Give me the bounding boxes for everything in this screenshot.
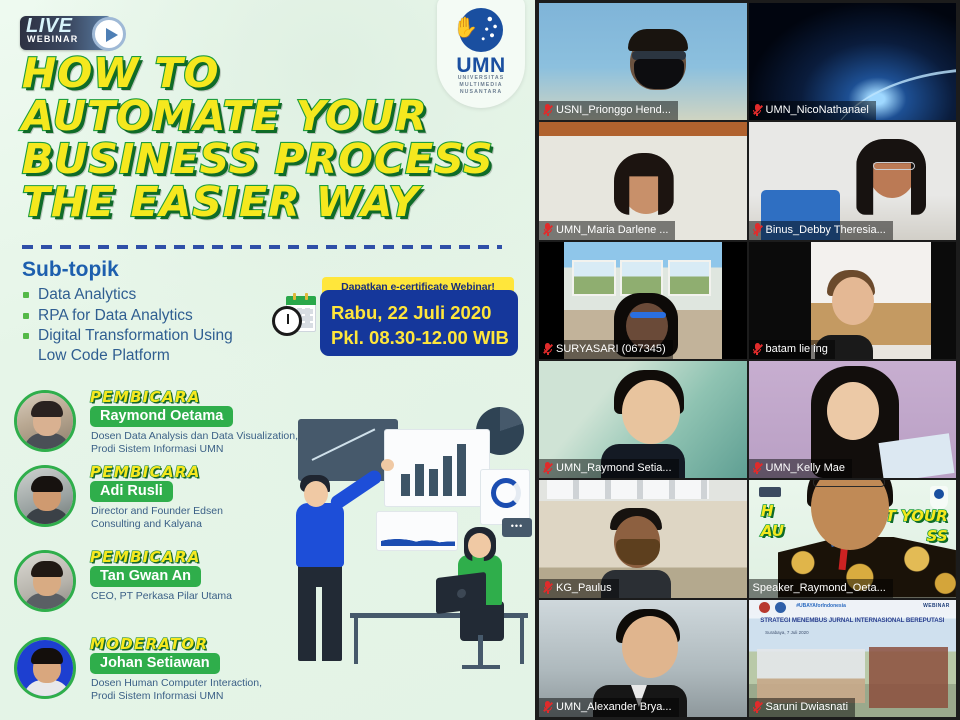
trend-board-icon [298, 419, 398, 481]
glasses-icon [813, 480, 885, 487]
participant-tile[interactable]: UMN_Maria Darlene ... [539, 122, 747, 239]
poster-overlay-text: H AU [761, 501, 784, 541]
subtopic-item-text: Digital Transformation Using [38, 327, 233, 344]
participant-name: batam lie ing [766, 342, 828, 356]
live-badge-mini [759, 487, 781, 497]
participant-name: UMN_Alexander Brya... [556, 700, 672, 714]
participant-name: USNI_Prionggo Hend... [556, 103, 671, 117]
speaker-name: Adi Rusli [90, 481, 173, 502]
mic-muted-icon [543, 343, 552, 356]
participant-nametag: Binus_Debby Theresia... [749, 221, 893, 240]
subtopic-title: Sub-topik [22, 258, 292, 282]
live-webinar-badge: LIVE WEBINAR [20, 14, 130, 52]
speaker-name: Tan Gwan An [90, 566, 201, 587]
calendar-clock-icon [272, 293, 318, 341]
subtopic-item: Data Analytics [22, 285, 292, 305]
active-speaker-tile[interactable]: H AU T YOUR SS Speaker_Raymond_Oeta... [749, 480, 957, 597]
subtopic-item: RPA for Data Analytics [22, 306, 292, 326]
webinar-poster: LIVE WEBINAR ✋ UMN UNIVERSITAS MULTIMEDI… [0, 0, 535, 720]
participant-tile[interactable]: Binus_Debby Theresia... [749, 122, 957, 239]
mic-muted-icon [753, 462, 762, 475]
subtopic-item: Digital Transformation Using Low Code Pl… [22, 326, 292, 365]
headline-line-2: AUTOMATE YOUR [22, 95, 522, 138]
speaker-role: PEMBICARA [90, 388, 201, 406]
webinar-time: Pkl. 08.30-12.00 WIB [320, 325, 518, 350]
mic-muted-icon [753, 223, 762, 236]
participant-video-grid[interactable]: USNI_Prionggo Hend... UMN_NicoNathanael … [535, 0, 960, 720]
bar-chart-card [384, 429, 490, 507]
slide-title: STRATEGI MENEMBUS JURNAL INTERNASIONAL B… [757, 617, 948, 624]
participant-nametag: Speaker_Raymond_Oeta... [749, 579, 893, 598]
participant-tile[interactable]: UMN_Raymond Setia... [539, 361, 747, 478]
stopwatch-icon [272, 306, 302, 336]
mic-muted-icon [543, 462, 552, 475]
participant-tile[interactable]: #UBAYAforIndonesia WEBINAR STRATEGI MENE… [749, 600, 957, 717]
calendar-pin [305, 293, 308, 300]
moderator-role: MODERATOR [90, 635, 208, 653]
webinar-label: WEBINAR [27, 34, 78, 44]
subtopic-list: Data Analytics RPA for Data Analytics Di… [22, 285, 292, 365]
participant-nametag: SURYASARI (067345) [539, 340, 673, 359]
overlay-line-1: H [761, 501, 784, 521]
slide-subtitle: Surabaya, 7 Juli 2020 [765, 630, 809, 635]
slide-hashtag: #UBAYAforIndonesia [796, 603, 846, 609]
participant-tile[interactable]: UMN_NicoNathanael [749, 3, 957, 120]
participant-tile[interactable]: UMN_Alexander Brya... [539, 600, 747, 717]
date-time-card: Rabu, 22 Juli 2020 Pkl. 08.30-12.00 WIB [320, 290, 518, 356]
moderator-desc-line1: Dosen Human Computer Interaction, [91, 677, 326, 690]
donut-icon [491, 478, 521, 508]
mic-muted-icon [753, 104, 762, 117]
chat-bubble-icon: ••• [502, 518, 532, 537]
zoom-meeting-window: LIVE WEBINAR ✋ UMN UNIVERSITAS MULTIMEDI… [0, 0, 960, 720]
webinar-date: Rabu, 22 Juli 2020 [320, 290, 518, 325]
mic-muted-icon [543, 104, 552, 117]
participant-nametag: UMN_Alexander Brya... [539, 698, 679, 717]
participant-name: UMN_Kelly Mae [766, 461, 845, 475]
participant-tile[interactable]: batam lie ing [749, 242, 957, 359]
overlay-line-3: T YOUR [885, 506, 947, 526]
mic-muted-icon [543, 223, 552, 236]
speaker-role: PEMBICARA [90, 463, 201, 481]
participant-name: SURYASARI (067345) [556, 342, 666, 356]
participant-tile[interactable]: SURYASARI (067345) [539, 242, 747, 359]
area-chart-card [376, 511, 458, 551]
speaker-avatar [14, 390, 76, 452]
participant-tile[interactable]: UMN_Kelly Mae [749, 361, 957, 478]
analytics-illustration: ••• [288, 383, 528, 673]
participant-nametag: Saruni Dwiasnati [749, 698, 856, 717]
man-head [304, 481, 328, 507]
moderator-description: Dosen Human Computer Interaction, Prodi … [91, 677, 326, 703]
donut-chart-card [480, 469, 530, 525]
moderator-avatar [14, 637, 76, 699]
participant-name: UMN_Maria Darlene ... [556, 223, 668, 237]
laptop-icon [436, 572, 486, 614]
mic-muted-icon [753, 701, 762, 714]
mic-muted-icon [543, 581, 552, 594]
participant-name: Speaker_Raymond_Oeta... [753, 581, 886, 595]
speaker-avatar [14, 465, 76, 527]
participant-name: UMN_NicoNathanael [766, 103, 869, 117]
dashed-divider [22, 245, 502, 249]
participant-name: Binus_Debby Theresia... [766, 223, 886, 237]
overlay-line-2: AU [761, 521, 784, 541]
subtopic-item-continuation: Low Code Platform [38, 346, 292, 366]
participant-nametag: UMN_Maria Darlene ... [539, 221, 675, 240]
play-icon [92, 17, 126, 51]
headline-line-1: HOW TO [22, 52, 522, 95]
participant-nametag: KG_Paulus [539, 579, 619, 598]
speaker-role: PEMBICARA [90, 548, 201, 566]
calendar-pin [293, 293, 296, 300]
participant-nametag: UMN_NicoNathanael [749, 101, 876, 120]
seal-icon [759, 602, 770, 613]
mic-muted-icon [753, 343, 762, 356]
participant-nametag: batam lie ing [749, 340, 835, 359]
moderator-name: Johan Setiawan [90, 653, 220, 674]
speaker-name: Raymond Oetama [90, 406, 233, 427]
headline-line-4: THE EASIER WAY [22, 181, 522, 224]
participant-tile[interactable]: USNI_Prionggo Hend... [539, 3, 747, 120]
hand-icon: ✋ [453, 15, 478, 40]
speaker-avatar [14, 550, 76, 612]
stool [478, 635, 483, 669]
woman-head [468, 533, 491, 558]
participant-nametag: UMN_Kelly Mae [749, 459, 852, 478]
participant-nametag: USNI_Prionggo Hend... [539, 101, 678, 120]
poster-headline: HOW TO AUTOMATE YOUR BUSINESS PROCESS TH… [22, 52, 522, 224]
participant-name: UMN_Raymond Setia... [556, 461, 672, 475]
subtopic-section: Sub-topik Data Analytics RPA for Data An… [22, 258, 292, 366]
mic-muted-icon [543, 701, 552, 714]
man-body [296, 503, 344, 567]
shared-screen-area[interactable]: LIVE WEBINAR ✋ UMN UNIVERSITAS MULTIMEDI… [0, 0, 535, 720]
moderator-desc-line2: Prodi Sistem Informasi UMN [91, 690, 326, 703]
participant-name: KG_Paulus [556, 581, 612, 595]
participant-name: Saruni Dwiasnati [766, 700, 849, 714]
participant-nametag: UMN_Raymond Setia... [539, 459, 679, 478]
calendar-header [286, 296, 316, 305]
slide-webinar-badge: WEBINAR [923, 603, 950, 609]
headline-line-3: BUSINESS PROCESS [22, 138, 522, 181]
participant-tile[interactable]: KG_Paulus [539, 480, 747, 597]
man-legs [298, 563, 342, 661]
man-hand [381, 459, 394, 471]
